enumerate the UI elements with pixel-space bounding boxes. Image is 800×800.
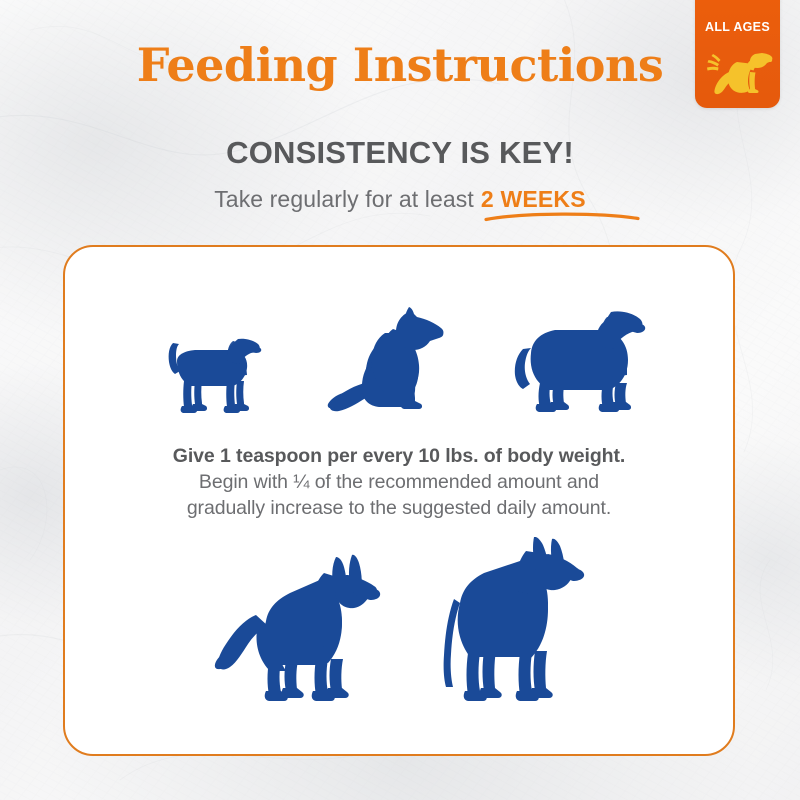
tagline-emphasis: 2 WEEKS [481,186,586,213]
medium-dog-sitting-icon [323,303,447,415]
dose-instructions: Give 1 teaspoon per every 10 lbs. of bod… [65,443,733,521]
feeding-instructions-panel: Feeding Instructions ALL AGES [0,0,800,800]
tagline-underline-icon [484,210,640,222]
dog-row-top [65,295,733,415]
subtitle-heading: CONSISTENCY IS KEY! [0,137,800,168]
feeding-card: Give 1 teaspoon per every 10 lbs. of bod… [63,245,735,756]
all-ages-badge-label: ALL AGES [695,20,780,34]
dose-primary-line: Give 1 teaspoon per every 10 lbs. of bod… [65,443,733,469]
xlarge-dog-standing-icon [212,553,382,705]
dose-secondary-line-2: gradually increase to the suggested dail… [65,495,733,521]
tagline-prefix: Take regularly for at least [214,186,474,212]
large-dog-standing-icon [507,305,647,415]
dose-secondary-line-1: Begin with ¼ of the recommended amount a… [65,469,733,495]
dog-row-bottom [65,535,733,705]
giant-dog-standing-icon [422,537,586,705]
small-dog-standing-icon [151,323,263,415]
tagline: Take regularly for at least2 WEEKS [0,186,800,213]
all-ages-badge: ALL AGES [695,0,780,108]
page-title: Feeding Instructions [0,42,800,88]
sitting-dog-wagging-tail-icon [702,40,774,98]
